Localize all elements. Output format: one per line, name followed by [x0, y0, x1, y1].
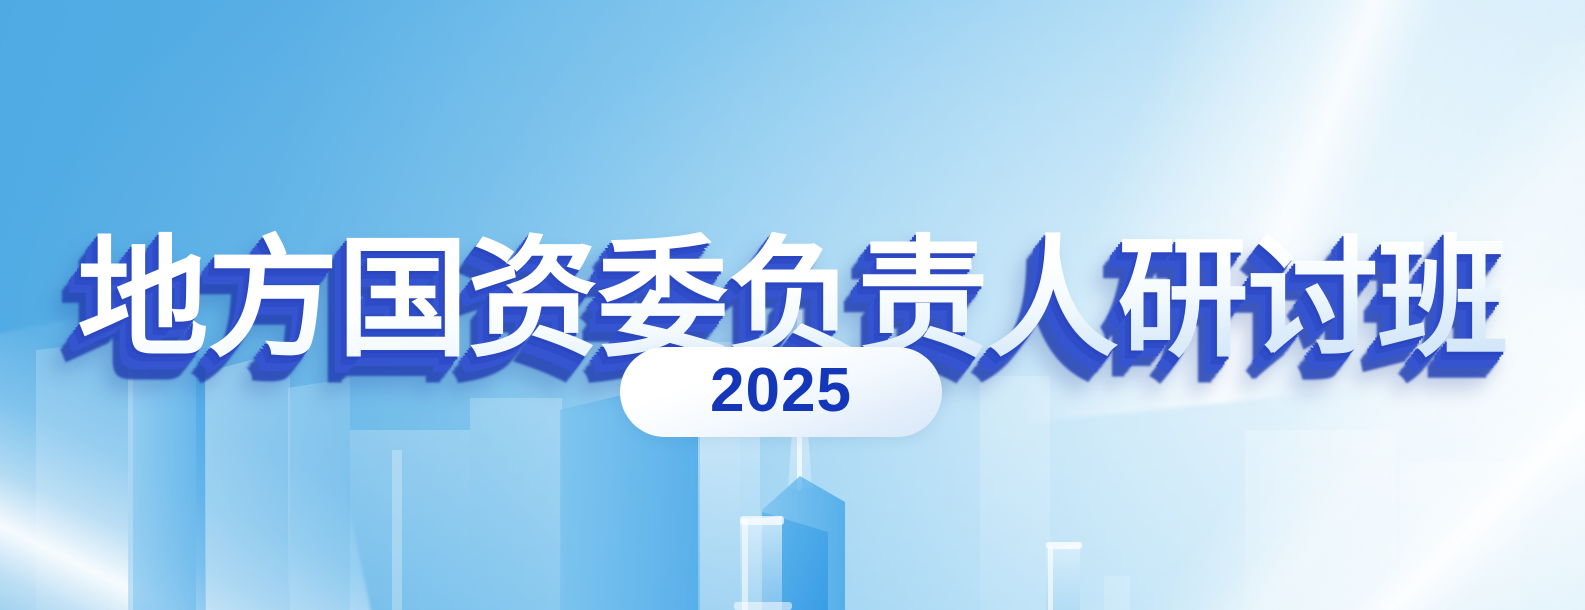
year-badge-label: 2025	[710, 360, 852, 425]
conference-banner: 地方国资委负责人研讨班 2025	[0, 0, 1585, 610]
year-badge: 2025	[620, 347, 942, 437]
